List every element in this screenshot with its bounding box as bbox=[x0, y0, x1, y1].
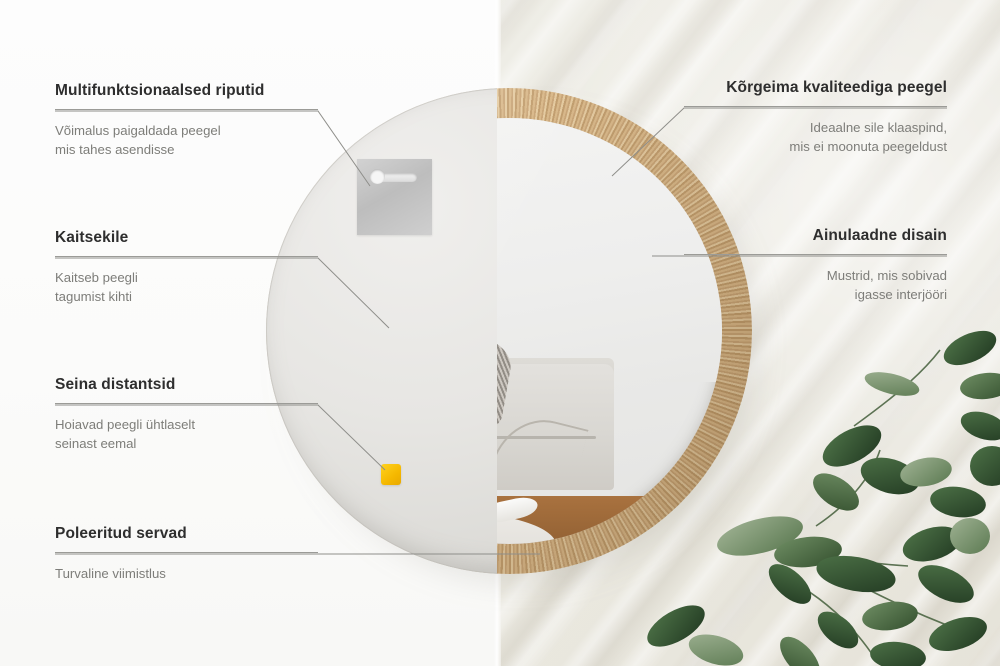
callout-poleeritud-servad: Poleeritud servad Turvaline viimistlus bbox=[55, 525, 318, 583]
callout-desc: Mustrid, mis sobivad igasse interjööri bbox=[684, 266, 947, 304]
callout-rule bbox=[55, 109, 318, 110]
callout-kaitsekile: Kaitsekile Kaitseb peegli tagumist kihti bbox=[55, 229, 318, 306]
infographic-canvas: Multifunktsionaalsed riputid Võimalus pa… bbox=[0, 0, 1000, 666]
callout-desc: Kaitseb peegli tagumist kihti bbox=[55, 268, 318, 306]
callout-desc: Hoiavad peegli ühtlaselt seinast eemal bbox=[55, 415, 318, 453]
callout-title: Multifunktsionaalsed riputid bbox=[55, 82, 318, 100]
callout-rule bbox=[55, 403, 318, 404]
wall-spacer-icon bbox=[381, 464, 401, 485]
callout-korgeima-kvaliteediga-peegel: Kõrgeima kvaliteediga peegel Ideaalne si… bbox=[684, 79, 947, 156]
callout-title: Seina distantsid bbox=[55, 376, 318, 394]
callout-title: Ainulaadne disain bbox=[684, 227, 947, 245]
callout-multifunktsionaalsed-riputid: Multifunktsionaalsed riputid Võimalus pa… bbox=[55, 82, 318, 159]
plant-foliage bbox=[640, 330, 1000, 666]
callout-rule bbox=[55, 256, 318, 257]
callout-rule bbox=[55, 552, 318, 553]
callout-rule bbox=[684, 106, 947, 107]
hanger-plate-icon bbox=[357, 159, 432, 235]
callout-title: Kaitsekile bbox=[55, 229, 318, 247]
callout-seina-distantsid: Seina distantsid Hoiavad peegli ühtlasel… bbox=[55, 376, 318, 453]
callout-title: Kõrgeima kvaliteediga peegel bbox=[684, 79, 947, 97]
callout-rule bbox=[684, 254, 947, 255]
callout-desc: Ideaalne sile klaaspind, mis ei moonuta … bbox=[684, 118, 947, 156]
hanger-keyhole bbox=[370, 169, 385, 184]
callout-desc: Võimalus paigaldada peegel mis tahes ase… bbox=[55, 121, 318, 159]
callout-ainulaadne-disain: Ainulaadne disain Mustrid, mis sobivad i… bbox=[684, 227, 947, 304]
callout-desc: Turvaline viimistlus bbox=[55, 564, 318, 583]
leaves-icon bbox=[640, 330, 1000, 666]
callout-title: Poleeritud servad bbox=[55, 525, 318, 543]
